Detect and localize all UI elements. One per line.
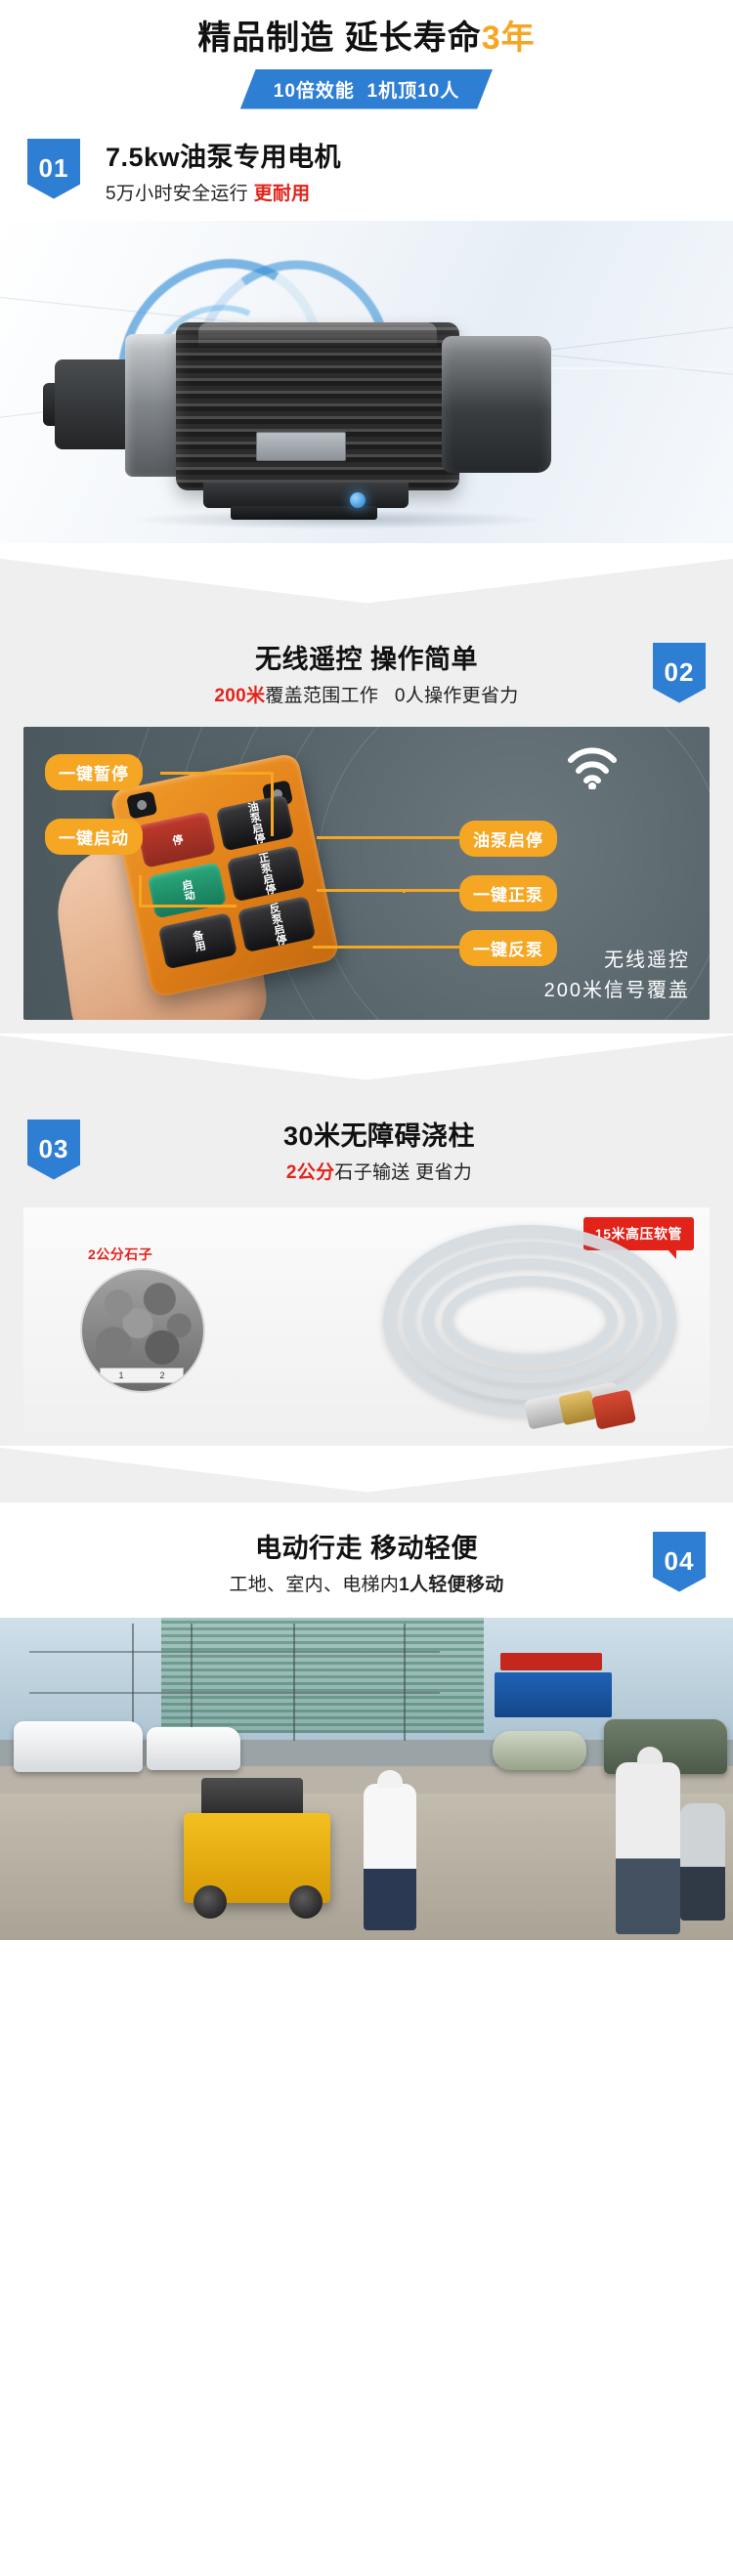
section-badge-02: 02 bbox=[653, 643, 706, 703]
callout-pause: 一键暂停 bbox=[45, 754, 143, 790]
covered-equipment bbox=[493, 1731, 586, 1770]
site-banner-red bbox=[500, 1653, 602, 1670]
section-03-head: 03 30米无障碍浇柱 2公分石子输送 更省力 bbox=[0, 1119, 733, 1192]
section-04-texts: 电动行走 移动轻便 工地、室内、电梯内1人轻便移动 bbox=[229, 1532, 503, 1598]
section-badge-04: 04 bbox=[653, 1532, 706, 1592]
section-02-sub-plain: 覆盖范围工作 bbox=[265, 686, 378, 706]
parked-car bbox=[14, 1721, 143, 1772]
hose-coil-ring bbox=[442, 1276, 618, 1366]
section-02-sub-extra: 0人操作更省力 bbox=[395, 686, 519, 706]
ruler-mark-2: 2 bbox=[159, 1371, 164, 1380]
ribbon-right-text: 1机顶10人 bbox=[367, 81, 460, 102]
remote-key-reverse[interactable]: 反泵启停 bbox=[237, 895, 316, 951]
section-02-remote: 无线遥控 操作简单 200米覆盖范围工作 0人操作更省力 02 bbox=[0, 613, 733, 1034]
page-title: 精品制造 延长寿命3年 bbox=[0, 18, 733, 60]
wifi-icon bbox=[565, 744, 620, 789]
remote-caption-line1: 无线遥控 bbox=[544, 946, 690, 976]
hero-ribbon-wrap: 10倍效能 1机顶10人 bbox=[0, 69, 733, 109]
section-badge-03: 03 bbox=[27, 1119, 80, 1180]
hose-coupling-brass bbox=[558, 1389, 596, 1424]
section-03-texts: 30米无障碍浇柱 2公分石子输送 更省力 bbox=[106, 1119, 706, 1186]
jobsite-photo bbox=[0, 1618, 733, 1940]
section-03-sub-plain: 石子输送 更省力 bbox=[334, 1162, 472, 1183]
scaffold-pole bbox=[404, 1624, 406, 1741]
callout-lead bbox=[313, 946, 459, 949]
section-01-motor: 01 7.5kw油泵专用电机 5万小时安全运行 更耐用 bbox=[0, 109, 733, 557]
ribbon-left-text: 10倍效能 bbox=[274, 81, 355, 102]
section-02-title: 无线遥控 操作简单 bbox=[214, 643, 518, 677]
callout-lead bbox=[139, 875, 142, 907]
product-detail-page: 精品制造 延长寿命3年 10倍效能 1机顶10人 01 7.5kw油泵专用电机 … bbox=[0, 0, 733, 1940]
hero-header: 精品制造 延长寿命3年 10倍效能 1机顶10人 bbox=[0, 0, 733, 109]
remote-caption-line2: 200米信号覆盖 bbox=[544, 976, 690, 1006]
remote-key-forward[interactable]: 正泵启停 bbox=[226, 845, 305, 902]
scaffold-pole bbox=[293, 1624, 295, 1741]
section-badge-01: 01 bbox=[27, 139, 80, 199]
motor-photo bbox=[0, 221, 733, 543]
remote-screw bbox=[126, 790, 157, 819]
section-01-texts: 7.5kw油泵专用电机 5万小时安全运行 更耐用 bbox=[106, 139, 341, 207]
hose-coupling-red bbox=[591, 1389, 636, 1430]
page-title-accent: 3年 bbox=[482, 20, 536, 57]
hose-coil bbox=[383, 1225, 676, 1416]
page-title-main: 精品制造 延长寿命 bbox=[197, 20, 481, 57]
callout-lead bbox=[271, 772, 274, 836]
section-03-title: 30米无障碍浇柱 bbox=[106, 1119, 653, 1154]
ruler-scale: 1 2 bbox=[100, 1368, 184, 1383]
remote-photo: 停 油泵启停 启动 正泵启停 备用 反泵启停 一键暂停 一键启动 油泵启停 bbox=[23, 727, 710, 1020]
callout-pump-toggle: 油泵启停 bbox=[459, 821, 557, 857]
stone-sample-photo: 1 2 bbox=[80, 1268, 205, 1393]
motor-base bbox=[203, 483, 409, 508]
worker-person bbox=[364, 1784, 416, 1930]
tag-stone-size: 2公分石子 bbox=[88, 1245, 152, 1264]
section-02-texts: 无线遥控 操作简单 200米覆盖范围工作 0人操作更省力 bbox=[214, 643, 518, 709]
hose-photo: 15米高压软管 2公分石子 1 2 bbox=[23, 1207, 710, 1432]
callout-lead bbox=[317, 889, 405, 892]
section-02-sub-red: 200米 bbox=[214, 686, 265, 706]
worker-person bbox=[616, 1762, 680, 1934]
section-01-head: 01 7.5kw油泵专用电机 5万小时安全运行 更耐用 bbox=[0, 139, 733, 211]
safety-helmet-icon bbox=[377, 1770, 403, 1788]
machine-wheel bbox=[289, 1885, 323, 1919]
section-03-sub-red: 2公分 bbox=[286, 1162, 334, 1183]
section-02-subtitle: 200米覆盖范围工作 0人操作更省力 bbox=[214, 684, 518, 709]
section-03-hose: 03 30米无障碍浇柱 2公分石子输送 更省力 15米高压软管 2公分石子 1 … bbox=[0, 1090, 733, 1446]
section-03-inner: 03 30米无障碍浇柱 2公分石子输送 更省力 15米高压软管 2公分石子 1 … bbox=[0, 1090, 733, 1446]
ruler-mark-1: 1 bbox=[118, 1371, 123, 1380]
scaffold-pole bbox=[191, 1624, 193, 1741]
section-04-sub-plain: 工地、室内、电梯内 bbox=[229, 1575, 399, 1595]
callout-lead bbox=[403, 889, 459, 892]
section-02-head: 无线遥控 操作简单 200米覆盖范围工作 0人操作更省力 02 bbox=[0, 643, 733, 715]
remote-keypad[interactable]: 停 油泵启停 启动 正泵启停 备用 反泵启停 bbox=[137, 794, 317, 969]
remote-key-stop[interactable]: 停 bbox=[137, 811, 216, 867]
section-01-sub-plain: 5万小时安全运行 bbox=[106, 184, 248, 204]
section-divider-notch bbox=[0, 1034, 733, 1090]
callout-lead bbox=[317, 836, 459, 839]
section-04-mobility: 电动行走 移动轻便 工地、室内、电梯内1人轻便移动 04 bbox=[0, 1502, 733, 1940]
worker-person bbox=[680, 1803, 725, 1921]
motor-foot bbox=[231, 506, 377, 520]
scaffold-green-net bbox=[161, 1618, 484, 1733]
machine-wheel bbox=[194, 1885, 227, 1919]
remote-key-start[interactable]: 启动 bbox=[148, 862, 227, 918]
site-banner-blue bbox=[495, 1672, 612, 1717]
hero-ribbon: 10倍效能 1机顶10人 bbox=[240, 69, 493, 109]
scaffold-rail bbox=[29, 1651, 440, 1653]
section-01-inner: 01 7.5kw油泵专用电机 5万小时安全运行 更耐用 bbox=[0, 109, 733, 557]
section-02-inner: 无线遥控 操作简单 200米覆盖范围工作 0人操作更省力 02 bbox=[0, 613, 733, 1034]
section-02-head-row: 无线遥控 操作简单 200米覆盖范围工作 0人操作更省力 02 bbox=[27, 643, 706, 709]
section-01-subtitle: 5万小时安全运行 更耐用 bbox=[106, 182, 341, 207]
remote-caption: 无线遥控 200米信号覆盖 bbox=[544, 946, 690, 1006]
section-01-sub-red: 更耐用 bbox=[254, 184, 311, 204]
callout-reverse-pump: 一键反泵 bbox=[459, 930, 557, 966]
section-01-head-row: 01 7.5kw油泵专用电机 5万小时安全运行 更耐用 bbox=[27, 139, 706, 207]
motor-led-indicator bbox=[350, 492, 366, 508]
remote-key-spare[interactable]: 备用 bbox=[158, 912, 237, 969]
section-04-head: 电动行走 移动轻便 工地、室内、电梯内1人轻便移动 04 bbox=[0, 1532, 733, 1604]
section-04-title: 电动行走 移动轻便 bbox=[229, 1532, 503, 1566]
section-04-head-row: 电动行走 移动轻便 工地、室内、电梯内1人轻便移动 04 bbox=[27, 1532, 706, 1598]
callout-start: 一键启动 bbox=[45, 819, 143, 855]
scaffold-rail bbox=[29, 1692, 440, 1694]
motor-body bbox=[176, 322, 459, 490]
section-03-subtitle: 2公分石子输送 更省力 bbox=[106, 1161, 653, 1186]
section-04-subtitle: 工地、室内、电梯内1人轻便移动 bbox=[229, 1573, 503, 1598]
motor-nameplate bbox=[256, 432, 346, 461]
section-03-head-row: 03 30米无障碍浇柱 2公分石子输送 更省力 bbox=[27, 1119, 706, 1186]
section-04-inner: 电动行走 移动轻便 工地、室内、电梯内1人轻便移动 04 bbox=[0, 1502, 733, 1940]
callout-forward-pump: 一键正泵 bbox=[459, 875, 557, 911]
remote-key-pump-toggle[interactable]: 油泵启停 bbox=[215, 794, 294, 851]
pump-machine-hopper bbox=[201, 1778, 303, 1817]
motor-illustration bbox=[39, 315, 645, 505]
motor-fan-cover bbox=[442, 336, 551, 473]
section-divider-notch bbox=[0, 557, 733, 613]
section-divider-notch bbox=[0, 1446, 733, 1502]
parked-car bbox=[147, 1727, 240, 1770]
section-04-sub-strong: 1人轻便移动 bbox=[399, 1575, 503, 1595]
section-01-title: 7.5kw油泵专用电机 bbox=[106, 141, 341, 175]
callout-lead bbox=[160, 772, 274, 775]
callout-lead bbox=[139, 905, 237, 908]
